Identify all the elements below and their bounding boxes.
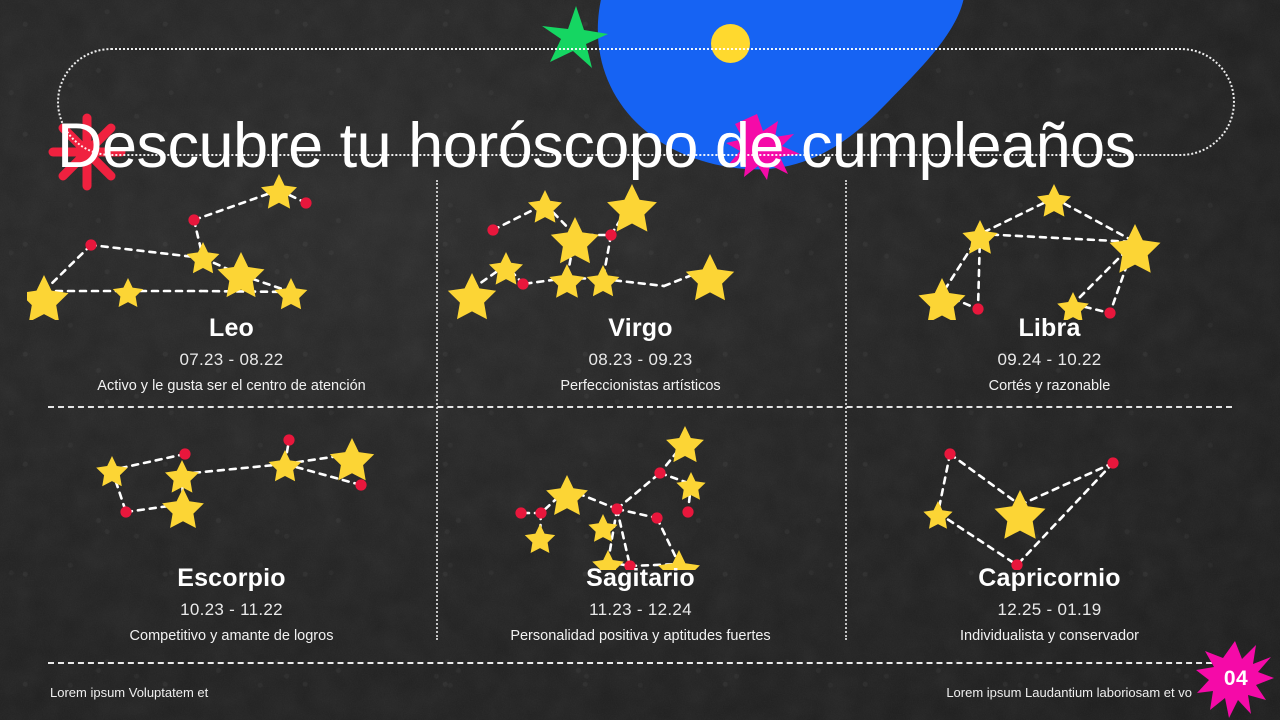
page-title: Descubre tu horóscopo de cumpleaños [57, 98, 1237, 194]
sign-name: Leo [27, 314, 436, 343]
page-number-badge: 04 [1196, 640, 1274, 718]
sign-dates: 08.23 - 09.23 [436, 350, 845, 370]
sign-dates: 09.24 - 10.22 [845, 350, 1254, 370]
slide-canvas: Descubre tu horóscopo de cumpleaños [0, 0, 1280, 720]
sign-card-sagitario[interactable]: Sagitario 11.23 - 12.24 Personalidad pos… [436, 422, 845, 662]
sign-name: Libra [845, 314, 1254, 343]
constellation-grid: Leo 07.23 - 08.22 Activo y le gusta ser … [0, 168, 1280, 648]
sign-description: Individualista y conservador [845, 628, 1254, 644]
sign-description: Competitivo y amante de logros [27, 628, 436, 644]
sign-card-virgo[interactable]: Virgo 08.23 - 09.23 Perfeccionistas artí… [436, 172, 845, 412]
sign-card-capricornio[interactable]: Capricornio 12.25 - 01.19 Individualista… [845, 422, 1254, 662]
sign-card-escorpio[interactable]: Escorpio 10.23 - 11.22 Competitivo y ama… [27, 422, 436, 662]
sign-description: Activo y le gusta ser el centro de atenc… [27, 378, 436, 394]
sign-name: Sagitario [436, 564, 845, 593]
footer-divider [48, 662, 1232, 664]
sign-name: Virgo [436, 314, 845, 343]
sign-dates: 11.23 - 12.24 [436, 600, 845, 620]
escorpio-constellation [27, 422, 436, 570]
sign-card-libra[interactable]: Libra 09.24 - 10.22 Cortés y razonable [845, 172, 1254, 412]
footer-text-right: Lorem ipsum Laudantium laboriosam et vo [946, 685, 1192, 700]
sign-description: Perfeccionistas artísticos [436, 378, 845, 394]
sign-description: Personalidad positiva y aptitudes fuerte… [436, 628, 845, 644]
capricornio-constellation [845, 422, 1254, 570]
sign-dates: 12.25 - 01.19 [845, 600, 1254, 620]
sign-name: Capricornio [845, 564, 1254, 593]
sign-description: Cortés y razonable [845, 378, 1254, 394]
footer-text-left: Lorem ipsum Voluptatem et [50, 685, 208, 700]
sign-dates: 07.23 - 08.22 [27, 350, 436, 370]
sign-dates: 10.23 - 11.22 [27, 600, 436, 620]
sign-card-leo[interactable]: Leo 07.23 - 08.22 Activo y le gusta ser … [27, 172, 436, 412]
sagitario-constellation [436, 422, 845, 570]
sign-name: Escorpio [27, 564, 436, 593]
page-number-label: 04 [1196, 640, 1274, 718]
